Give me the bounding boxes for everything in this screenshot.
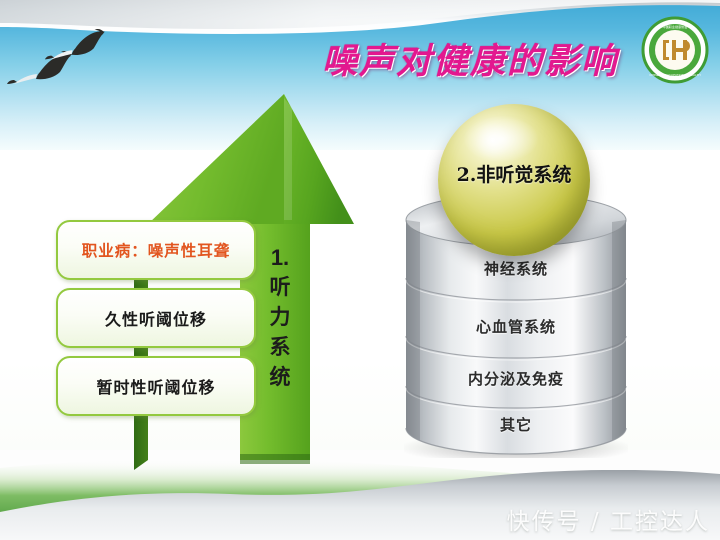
sphere-label-nonauditory-system: 2.非听觉系统 [438, 160, 590, 187]
arrow-label-char-1: 力 [263, 302, 297, 332]
hearing-box-temporary-threshold-shift[interactable]: 暂时性听阈位移 [56, 356, 256, 416]
sphere-highlight [464, 116, 538, 162]
nonauditory-sphere[interactable]: 2.非听觉系统 [438, 104, 590, 256]
hearing-box-label-1: 久性听阈位移 [105, 306, 207, 330]
hearing-box-occupational-disease[interactable]: 职业病：噪声性耳聋 [56, 220, 256, 280]
hearing-box-label-2: 暂时性听阈位移 [96, 374, 215, 398]
arrow-label-char-3: 统 [263, 362, 297, 392]
hearing-box-label-0: 职业病：噪声性耳聋 [82, 239, 231, 261]
svg-text:中国职业健康协会: 中国职业健康协会 [663, 24, 688, 29]
slide-canvas: 噪声对健康的影响 中国职业健康协会 CHINESE OCCUPATIONAL H… [0, 0, 720, 540]
svg-text:CHINESE OCCUPATIONAL HEALTH: CHINESE OCCUPATIONAL HEALTH [649, 73, 700, 77]
organization-logo-icon: 中国职业健康协会 CHINESE OCCUPATIONAL HEALTH [641, 16, 709, 84]
slide-title: 噪声对健康的影响 [300, 30, 640, 86]
watermark-credit: 快传号 / 工控达人 [470, 502, 710, 536]
hearing-box-permanent-threshold-shift[interactable]: 久性听阈位移 [56, 288, 256, 348]
arrow-label-number: 1. [263, 246, 297, 270]
arrow-label-char-2: 系 [263, 332, 297, 362]
arrow-label-hearing-system: 1. 听 力 系 统 [263, 246, 297, 392]
arrow-label-char-0: 听 [263, 272, 297, 302]
flying-birds-icon [6, 26, 126, 88]
